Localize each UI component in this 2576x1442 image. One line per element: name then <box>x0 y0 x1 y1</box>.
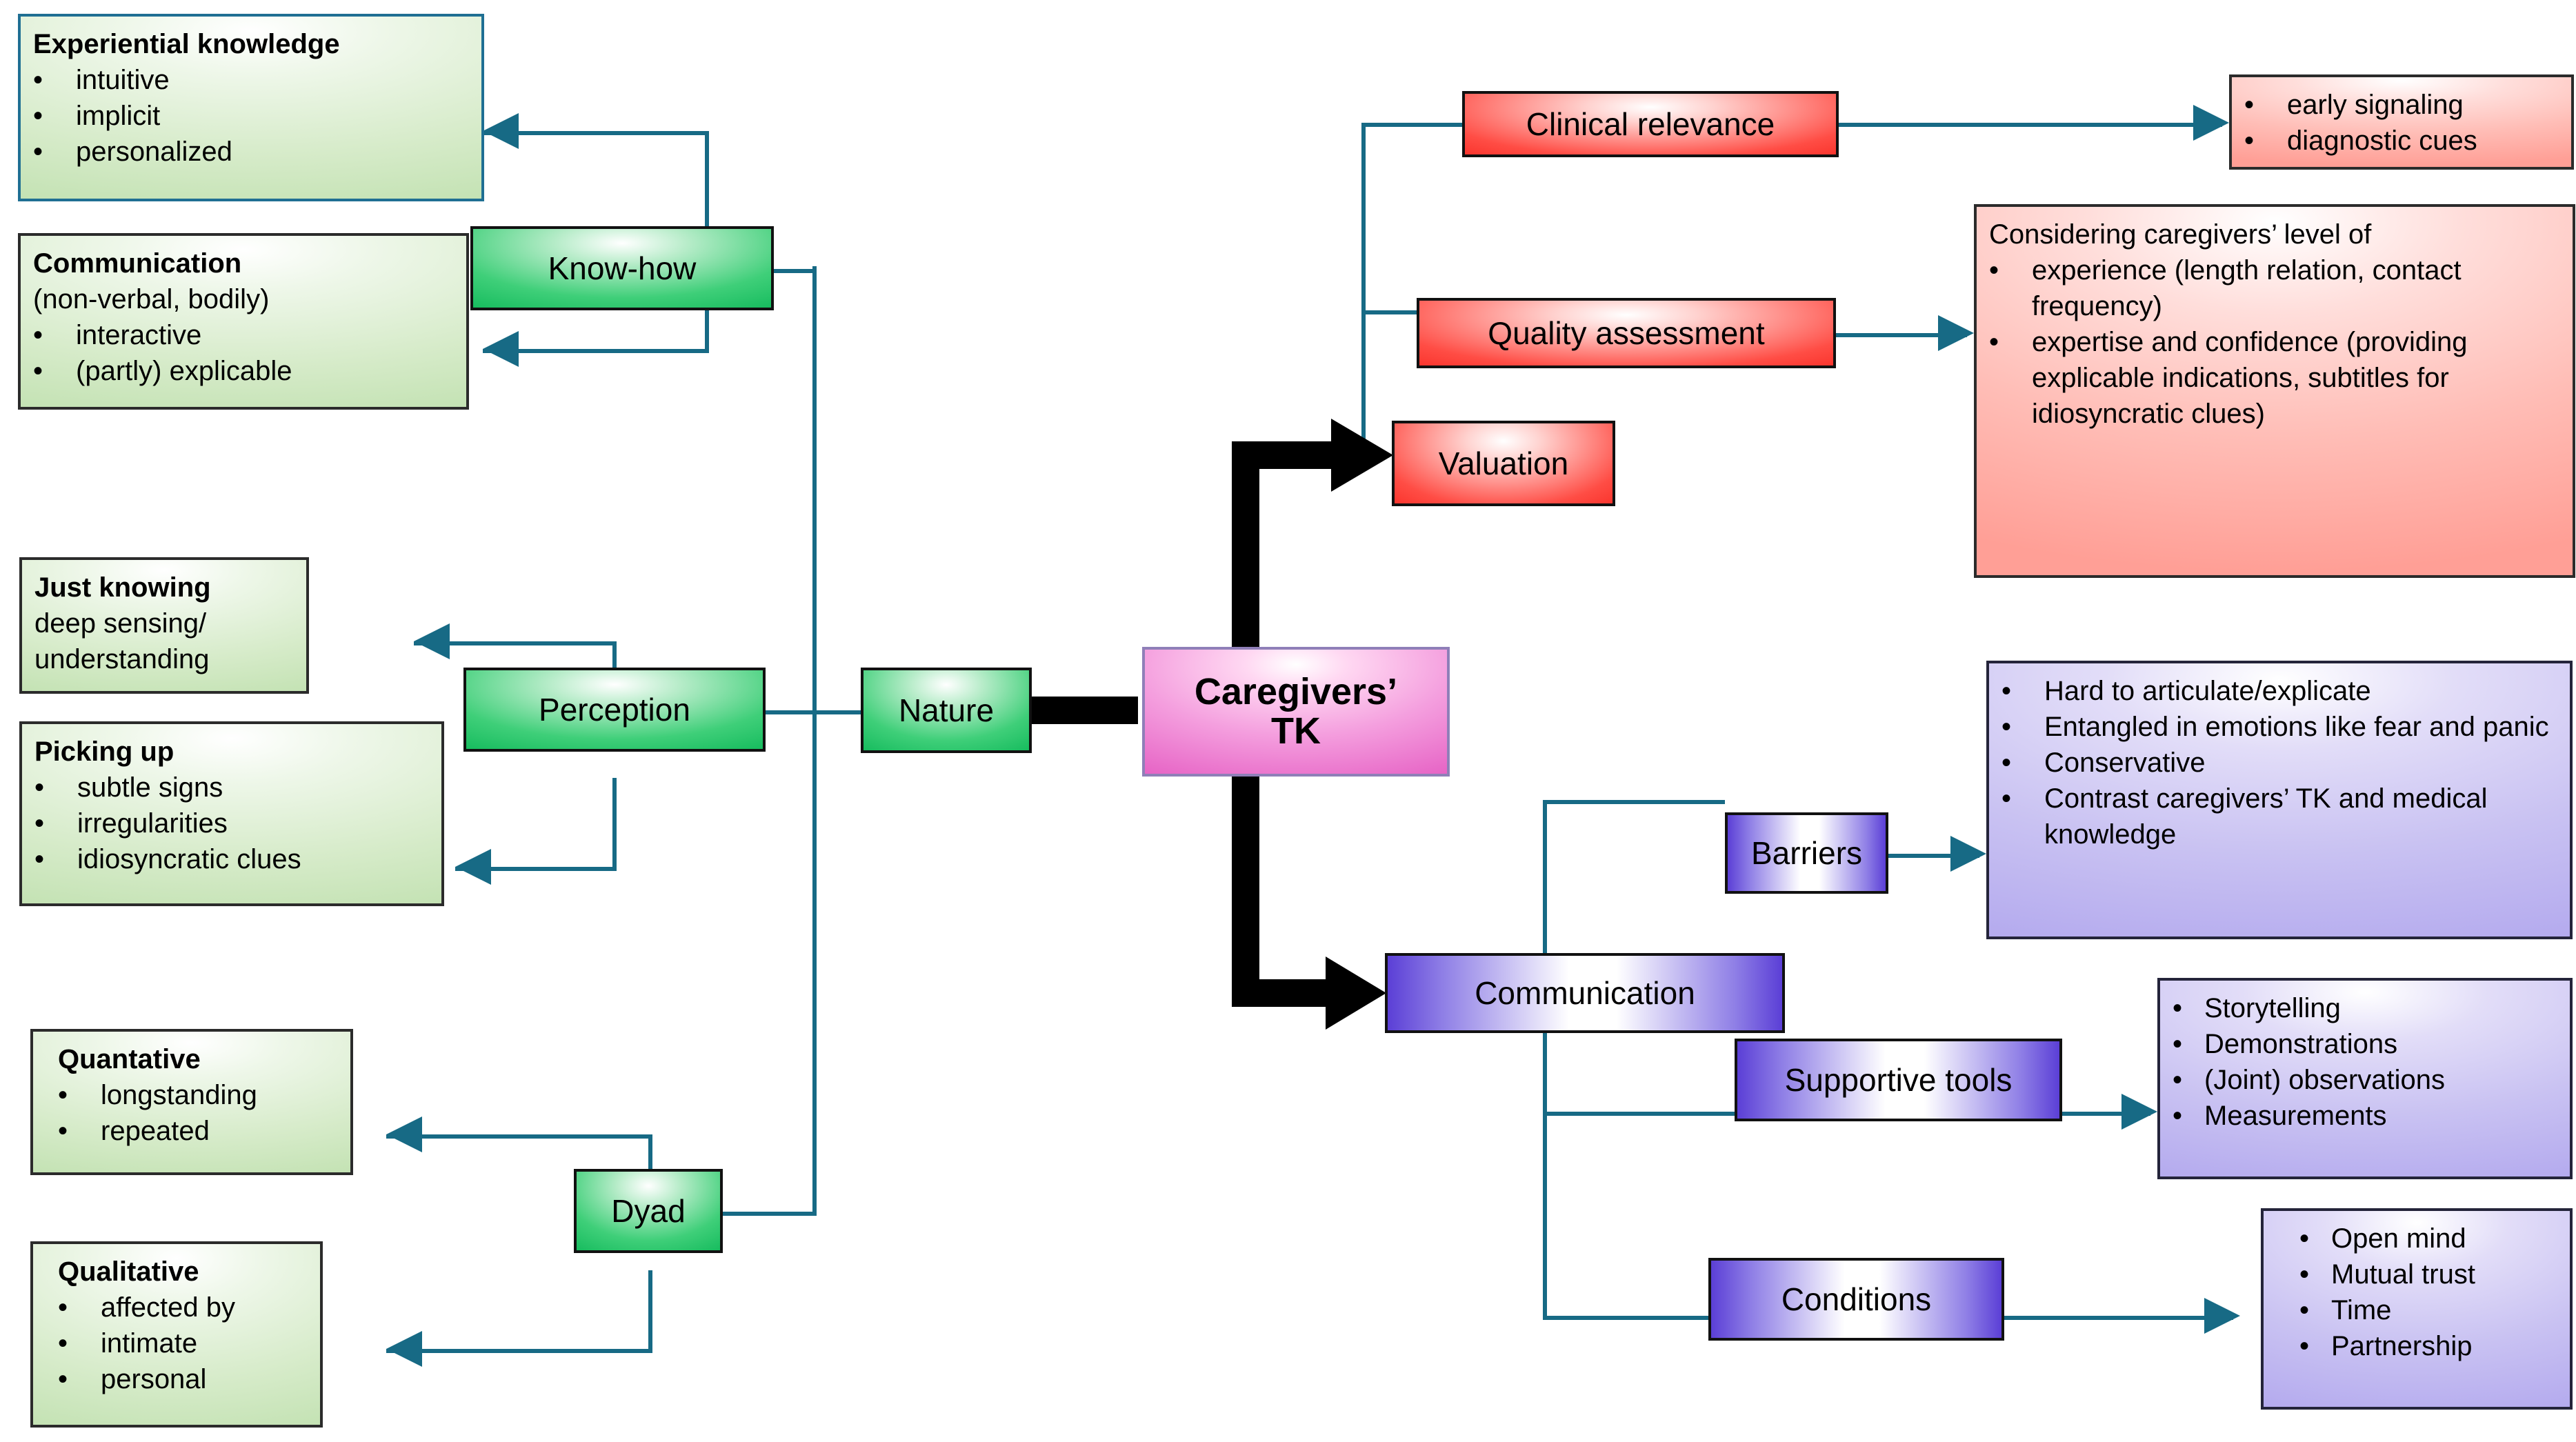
branch-nature[interactable]: Nature <box>861 668 1032 753</box>
detail-box-experiential-knowledge: Experiential knowledge •intuitive •impli… <box>18 14 484 201</box>
detail-box-just-knowing: Just knowing deep sensing/ understanding <box>19 557 309 694</box>
bullet-row: •Mutual trust <box>2299 1256 2557 1292</box>
category-clinical-relevance[interactable]: Clinical relevance <box>1462 91 1839 157</box>
center-node-label: Caregivers’ TK <box>1195 672 1397 750</box>
bullet-text: Contrast caregivers’ TK and medical know… <box>2044 781 2557 852</box>
detail-box-conditions: •Open mind •Mutual trust •Time •Partners… <box>2261 1208 2573 1410</box>
bullet-dot: • <box>33 134 76 170</box>
bullet-text: (Joint) observations <box>2204 1062 2557 1098</box>
bullet-text: Mutual trust <box>2331 1256 2557 1292</box>
bullet-row: •experience (length relation, contact fr… <box>1989 252 2560 324</box>
bullet-row: •Contrast caregivers’ TK and medical kno… <box>2001 781 2557 852</box>
bullet-row: •Storytelling <box>2173 990 2557 1026</box>
bullet-row: •Open mind <box>2299 1221 2557 1256</box>
detail-heading: Qualitative <box>58 1254 308 1290</box>
bullet-dot: • <box>33 353 76 389</box>
bullet-row: •Hard to articulate/explicate <box>2001 673 2557 709</box>
detail-heading: Experiential knowledge <box>33 26 469 62</box>
branch-label: Communication <box>1475 977 1695 1010</box>
bullet-text: intuitive <box>76 62 469 98</box>
bullet-dot: • <box>58 1361 101 1397</box>
bullet-dot: • <box>2299 1292 2331 1328</box>
bullet-text: expertise and confidence (providing expl… <box>2032 324 2560 432</box>
detail-box-supportive-tools: •Storytelling •Demonstrations •(Joint) o… <box>2157 978 2573 1179</box>
bullet-dot: • <box>34 770 77 805</box>
bullet-text: interactive <box>76 317 454 353</box>
detail-subheading: (non-verbal, bodily) <box>33 281 454 317</box>
bullet-dot: • <box>34 805 77 841</box>
bullet-dot: • <box>2173 990 2204 1026</box>
bullet-dot: • <box>2173 1098 2204 1134</box>
bullet-text: personal <box>101 1361 308 1397</box>
bullet-dot: • <box>2299 1221 2331 1256</box>
bullet-row: •Partnership <box>2299 1328 2557 1364</box>
detail-box-picking-up: Picking up •subtle signs •irregularities… <box>19 721 444 906</box>
bullet-row: •diagnostic cues <box>2244 123 2559 159</box>
bullet-text: Entangled in emotions like fear and pani… <box>2044 709 2557 745</box>
bullet-text: idiosyncratic clues <box>77 841 429 877</box>
arrowhead-pickingup <box>455 849 491 885</box>
branch-label: Valuation <box>1439 447 1568 480</box>
arrowhead-quality-detail <box>1938 315 1974 351</box>
bullet-text: diagnostic cues <box>2287 123 2559 159</box>
bullet-dot: • <box>2299 1328 2331 1364</box>
category-label: Barriers <box>1751 837 1862 870</box>
detail-box-communication-nonverbal: Communication (non-verbal, bodily) •inte… <box>18 233 469 410</box>
category-label: Quality assessment <box>1488 317 1764 350</box>
detail-box-clinical-relevance: •early signaling •diagnostic cues <box>2229 74 2574 170</box>
category-know-how[interactable]: Know-how <box>470 226 774 310</box>
bullet-dot: • <box>33 98 76 134</box>
category-quality-assessment[interactable]: Quality assessment <box>1417 298 1836 368</box>
bullet-row: •expertise and confidence (providing exp… <box>1989 324 2560 432</box>
bullet-dot: • <box>1989 252 2032 288</box>
detail-heading: Picking up <box>34 734 429 770</box>
detail-heading: Just knowing <box>34 570 294 605</box>
bullet-text: repeated <box>101 1113 338 1149</box>
bullet-row: •early signaling <box>2244 87 2559 123</box>
bullet-dot: • <box>58 1077 101 1113</box>
bullet-dot: • <box>58 1113 101 1149</box>
bullet-dot: • <box>58 1325 101 1361</box>
detail-box-qualitative: Qualitative •affected by •intimate •pers… <box>30 1241 323 1428</box>
detail-heading: Quantative <box>58 1041 338 1077</box>
category-label: Clinical relevance <box>1526 108 1775 141</box>
bullet-row: •idiosyncratic clues <box>34 841 429 877</box>
arrowhead-barriers-detail <box>1950 836 1986 872</box>
arrowhead-conditions-detail <box>2204 1298 2240 1334</box>
bullet-dot: • <box>34 841 77 877</box>
bullet-text: personalized <box>76 134 469 170</box>
detail-line: understanding <box>34 641 294 677</box>
bullet-text: Partnership <box>2331 1328 2557 1364</box>
detail-box-quantative: Quantative •longstanding •repeated <box>30 1029 353 1175</box>
bullet-row: •(partly) explicable <box>33 353 454 389</box>
category-label: Know-how <box>548 252 697 285</box>
bullet-dot: • <box>2244 87 2287 123</box>
bullet-dot: • <box>2001 745 2044 781</box>
bullet-row: •irregularities <box>34 805 429 841</box>
branch-valuation[interactable]: Valuation <box>1392 421 1615 506</box>
bullet-dot: • <box>58 1290 101 1325</box>
bullet-dot: • <box>2173 1062 2204 1098</box>
bullet-dot: • <box>2001 673 2044 709</box>
bullet-row: •interactive <box>33 317 454 353</box>
bullet-dot: • <box>2001 781 2044 817</box>
bullet-text: affected by <box>101 1290 308 1325</box>
category-label: Perception <box>539 693 690 726</box>
bullet-dot: • <box>2001 709 2044 745</box>
bullet-row: •Demonstrations <box>2173 1026 2557 1062</box>
category-conditions[interactable]: Conditions <box>1708 1258 2004 1341</box>
bullet-row: •affected by <box>58 1290 308 1325</box>
detail-box-barriers: •Hard to articulate/explicate •Entangled… <box>1986 661 2573 939</box>
bullet-row: •(Joint) observations <box>2173 1062 2557 1098</box>
detail-heading: Considering caregivers’ level of <box>1989 217 2560 252</box>
bullet-dot: • <box>2173 1026 2204 1062</box>
detail-box-quality-assessment: Considering caregivers’ level of •experi… <box>1974 204 2575 578</box>
thick-arrow-tk-to-valuation <box>1232 419 1393 683</box>
bullet-dot: • <box>33 317 76 353</box>
category-label: Conditions <box>1781 1283 1931 1316</box>
category-perception[interactable]: Perception <box>463 668 766 752</box>
bullet-dot: • <box>2299 1256 2331 1292</box>
arrowhead-supportive-detail <box>2121 1094 2157 1130</box>
bullet-row: •intimate <box>58 1325 308 1361</box>
bullet-row: •intuitive <box>33 62 469 98</box>
bullet-text: Demonstrations <box>2204 1026 2557 1062</box>
bullet-row: •Measurements <box>2173 1098 2557 1134</box>
bullet-text: subtle signs <box>77 770 429 805</box>
bullet-text: Open mind <box>2331 1221 2557 1256</box>
arrowhead-communication-leaf <box>483 331 519 367</box>
bullet-text: Conservative <box>2044 745 2557 781</box>
branch-label: Nature <box>899 694 994 727</box>
bullet-row: •subtle signs <box>34 770 429 805</box>
detail-line: deep sensing/ <box>34 605 294 641</box>
bullet-text: Measurements <box>2204 1098 2557 1134</box>
concept-map-canvas: Experiential knowledge •intuitive •impli… <box>0 0 2576 1442</box>
bullet-text: longstanding <box>101 1077 338 1113</box>
bullet-text: intimate <box>101 1325 308 1361</box>
arrowhead-quantative <box>386 1116 422 1152</box>
detail-heading: Communication <box>33 246 454 281</box>
category-supportive-tools[interactable]: Supportive tools <box>1735 1039 2062 1121</box>
category-barriers[interactable]: Barriers <box>1725 812 1888 894</box>
bullet-row: •personalized <box>33 134 469 170</box>
bullet-text: Storytelling <box>2204 990 2557 1026</box>
category-label: Dyad <box>611 1194 685 1228</box>
bullet-text: (partly) explicable <box>76 353 454 389</box>
bullet-row: •Time <box>2299 1292 2557 1328</box>
arrowhead-justknowing <box>414 623 450 659</box>
bullet-text: Time <box>2331 1292 2557 1328</box>
category-dyad[interactable]: Dyad <box>574 1169 723 1253</box>
bullet-text: implicit <box>76 98 469 134</box>
bullet-row: •Conservative <box>2001 745 2557 781</box>
category-label: Supportive tools <box>1785 1063 2013 1096</box>
bullet-text: early signaling <box>2287 87 2559 123</box>
arrowhead-experiential <box>483 113 519 149</box>
bullet-dot: • <box>33 62 76 98</box>
bullet-text: Hard to articulate/explicate <box>2044 673 2557 709</box>
center-node-caregivers-tk[interactable]: Caregivers’ TK <box>1142 647 1450 777</box>
arrowhead-qualitative <box>386 1331 422 1367</box>
bullet-dot: • <box>2244 123 2287 159</box>
bullet-row: •personal <box>58 1361 308 1397</box>
bullet-row: •implicit <box>33 98 469 134</box>
bullet-dot: • <box>1989 324 2032 360</box>
bullet-text: irregularities <box>77 805 429 841</box>
thick-arrow-tk-to-communication <box>1232 752 1386 1030</box>
arrowhead-clinical-detail <box>2193 105 2229 141</box>
branch-communication[interactable]: Communication <box>1385 953 1785 1033</box>
bullet-row: •longstanding <box>58 1077 338 1113</box>
bullet-row: •repeated <box>58 1113 338 1149</box>
bullet-row: •Entangled in emotions like fear and pan… <box>2001 709 2557 745</box>
bullet-text: experience (length relation, contact fre… <box>2032 252 2560 324</box>
